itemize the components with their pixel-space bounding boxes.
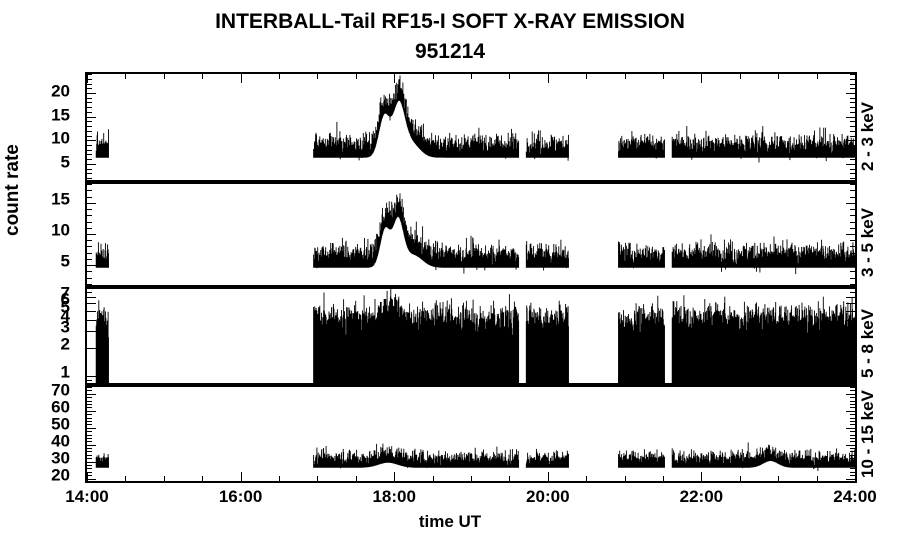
- y-tick-label: 10: [51, 221, 70, 238]
- x-tick-label: 20:00: [526, 487, 569, 507]
- y-tick-label: 10: [51, 130, 70, 147]
- data-trace: [87, 385, 855, 485]
- y-tick-label: 7: [61, 284, 70, 301]
- x-axis-title: time UT: [0, 512, 900, 532]
- panel-10to15keV: [87, 383, 855, 485]
- y-tick-label-column: 5101520510151234567203040506070: [0, 72, 78, 483]
- band-label-3-5keV: 3 - 5 keV: [858, 208, 878, 277]
- y-tick-label: 2: [61, 335, 70, 352]
- y-tick-label: 1: [61, 363, 70, 380]
- plot-page: INTERBALL-Tail RF15-I SOFT X-RAY EMISSIO…: [0, 0, 900, 548]
- data-trace: [87, 287, 855, 383]
- y-tick-label: 5: [61, 153, 70, 170]
- y-tick-label: 50: [51, 415, 70, 432]
- band-label-2-3keV: 2 - 3 keV: [858, 102, 878, 171]
- x-tick-label: 22:00: [680, 487, 723, 507]
- data-trace: [87, 182, 855, 285]
- band-label-10-15keV: 10 - 15 keV: [858, 390, 878, 478]
- x-tick-label: 24:00: [833, 487, 876, 507]
- panel-5to8keV: [87, 285, 855, 383]
- x-tick-label: 14:00: [65, 487, 108, 507]
- panel-2to3keV: [87, 74, 855, 180]
- y-tick-label: 20: [51, 466, 70, 483]
- y-tick-label: 15: [51, 106, 70, 123]
- panel-3to5keV: [87, 180, 855, 285]
- y-tick-label: 60: [51, 398, 70, 415]
- x-tick-label: 16:00: [219, 487, 262, 507]
- x-tick-label: 18:00: [372, 487, 415, 507]
- y-tick-label: 70: [51, 381, 70, 398]
- y-tick-label: 5: [61, 253, 70, 270]
- y-tick-label: 15: [51, 190, 70, 207]
- y-tick-label: 40: [51, 432, 70, 449]
- y-tick-label: 20: [51, 82, 70, 99]
- page-subtitle-date: 951214: [0, 40, 900, 64]
- plot-frame: [85, 72, 857, 483]
- data-trace: [87, 74, 855, 180]
- page-title: INTERBALL-Tail RF15-I SOFT X-RAY EMISSIO…: [0, 10, 900, 34]
- band-label-5-8keV: 5 - 8 keV: [858, 309, 878, 378]
- y-tick-label: 30: [51, 449, 70, 466]
